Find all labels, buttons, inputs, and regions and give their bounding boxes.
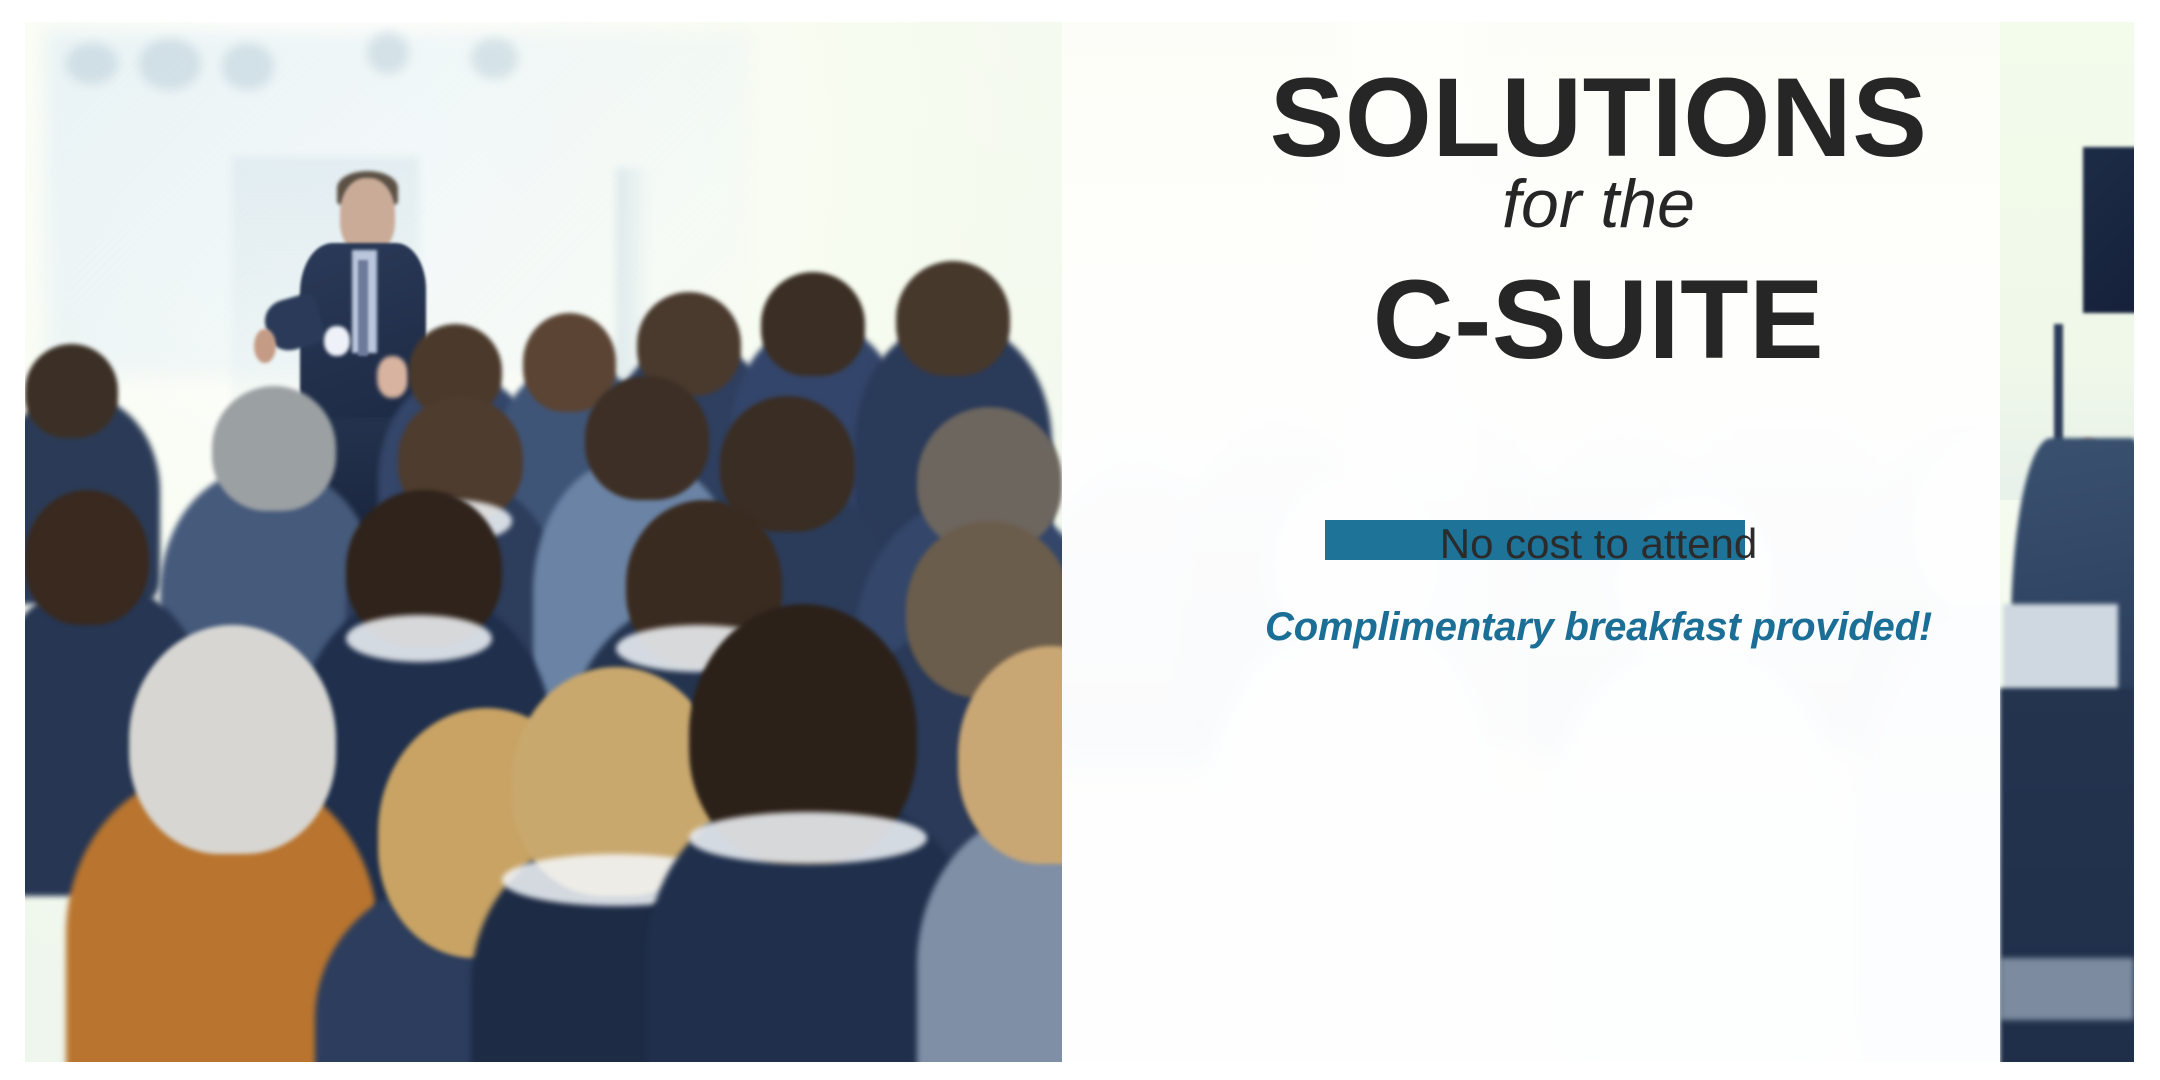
strip-microphone xyxy=(2054,324,2063,449)
side-photo-strip xyxy=(2000,22,2134,1062)
headline-connector: for the xyxy=(1062,170,2135,238)
attendee-head xyxy=(25,344,118,438)
headline-secondary: C-SUITE xyxy=(1062,264,2135,376)
panel-content: SOLUTIONS for the C-SUITE No cost to att… xyxy=(1062,22,2135,1062)
attendee-collar xyxy=(346,615,491,662)
conference-audience-photo xyxy=(25,22,1062,1062)
attendee-head xyxy=(761,272,865,376)
attendee-head xyxy=(129,625,336,854)
attendee-head xyxy=(212,386,336,511)
breakfast-note: Complimentary breakfast provided! xyxy=(1062,605,2135,650)
attendee-head xyxy=(25,490,149,625)
message-panel: SOLUTIONS for the C-SUITE No cost to att… xyxy=(1062,22,2135,1062)
attendee-head xyxy=(585,376,709,501)
strip-laptop xyxy=(2003,604,2118,698)
strip-monitor xyxy=(2083,147,2134,313)
strip-highlight xyxy=(2000,958,2134,1020)
event-banner: SOLUTIONS for the C-SUITE No cost to att… xyxy=(0,0,2160,1080)
headline-primary: SOLUTIONS xyxy=(1062,62,2135,174)
cost-note: No cost to attend xyxy=(1062,520,2135,568)
attendee-head xyxy=(896,261,1010,375)
audience-crowd xyxy=(25,22,1062,1062)
